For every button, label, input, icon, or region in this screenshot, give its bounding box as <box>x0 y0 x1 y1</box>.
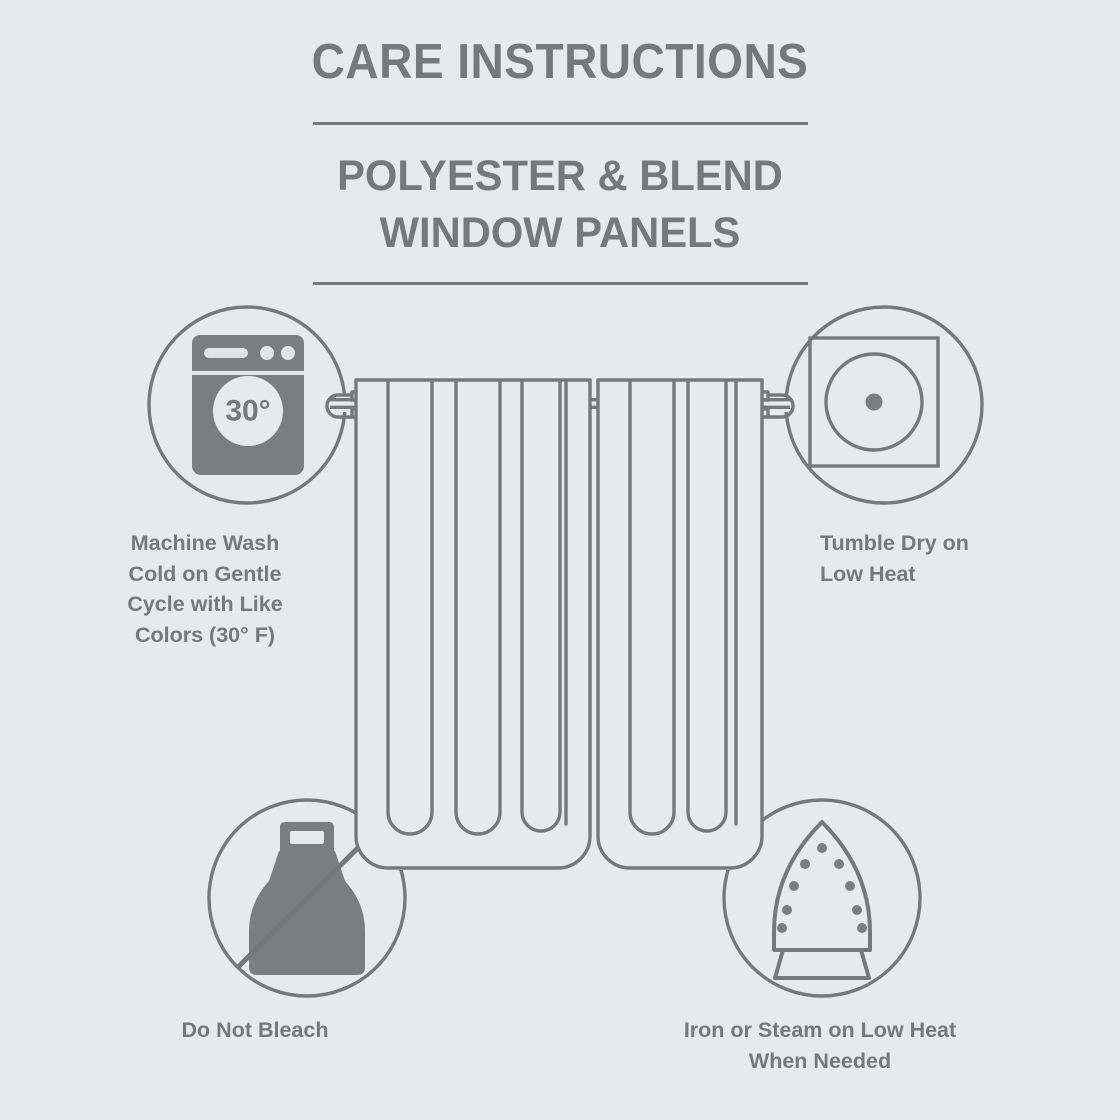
dry-heat-dot <box>866 394 883 411</box>
bleach-caption-line-1: Do Not Bleach <box>90 1015 420 1046</box>
iron-low-heat-icon <box>774 822 870 978</box>
curtain-illustration <box>327 380 793 868</box>
wash-caption-line-4: Colors (30° F) <box>30 620 380 651</box>
curtain-panel-right <box>598 380 762 868</box>
wash-caption-line-2: Cold on Gentle <box>30 559 380 590</box>
washing-machine-icon: 30° <box>192 335 304 475</box>
bleach-caption: Do Not Bleach <box>90 1015 420 1046</box>
wash-temperature-label: 30° <box>225 395 270 428</box>
iron-base <box>775 950 869 978</box>
dry-caption-line-2: Low Heat <box>820 559 1120 590</box>
iron-caption-line-1: Iron or Steam on Low Heat <box>600 1015 1040 1046</box>
dry-caption-line-1: Tumble Dry on <box>820 528 1120 559</box>
curtain-panel-left <box>356 380 590 868</box>
dry-caption: Tumble Dry on Low Heat <box>820 528 1120 589</box>
wash-caption-line-3: Cycle with Like <box>30 589 380 620</box>
wash-caption: Machine Wash Cold on Gentle Cycle with L… <box>30 528 380 650</box>
iron-soleplate <box>774 822 870 950</box>
iron-steam-holes <box>777 843 867 933</box>
iron-caption: Iron or Steam on Low Heat When Needed <box>600 1015 1040 1076</box>
bleach-bottle-cap <box>280 822 334 853</box>
iron-caption-line-2: When Needed <box>600 1046 1040 1077</box>
wash-caption-line-1: Machine Wash <box>30 528 380 559</box>
care-instructions-card: CARE INSTRUCTIONS POLYESTER & BLEND WIND… <box>0 0 1120 1120</box>
